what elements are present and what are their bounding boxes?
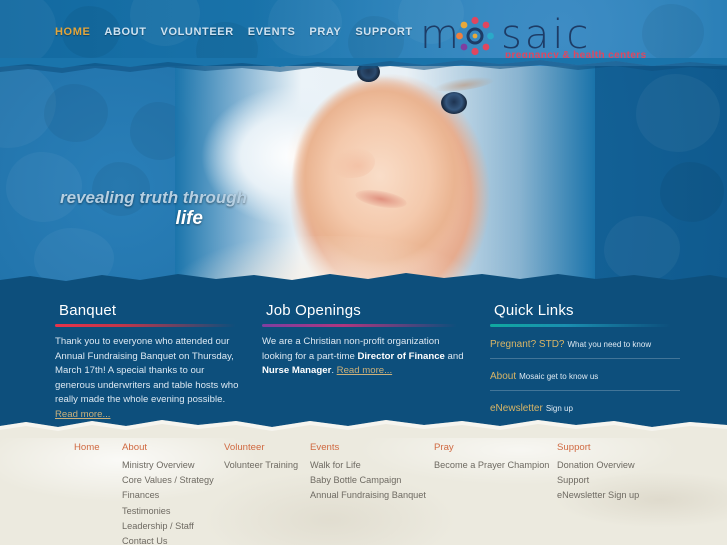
footer-link-support[interactable]: Support	[557, 473, 639, 488]
footer-heading-volunteer[interactable]: Volunteer	[224, 442, 298, 453]
site-logo[interactable]: msaic pregnancy & health centers	[420, 10, 665, 65]
footer-link-contact-us[interactable]: Contact Us	[122, 534, 214, 545]
mosaic-pattern-blob	[636, 74, 720, 152]
footer-column-volunteer: Volunteer Volunteer Training	[224, 442, 298, 473]
quick-link-value: What you need to know	[568, 340, 652, 349]
footer-link-testimonies[interactable]: Testimonies	[122, 504, 214, 519]
banquet-divider	[55, 324, 245, 327]
main-navigation[interactable]: HOME ABOUT VOLUNTEER EVENTS PRAY SUPPORT	[55, 26, 413, 38]
mosaic-pattern-blob	[348, 16, 404, 68]
jobs-body: We are a Christian non-profit organizati…	[262, 335, 467, 379]
column-quick-links: Quick Links Pregnant? STD?What you need …	[490, 302, 680, 422]
footer-heading-home[interactable]: Home	[74, 442, 100, 453]
column-banquet: Banquet Thank you to everyone who attend…	[55, 302, 245, 422]
nav-item-pray[interactable]: PRAY	[309, 26, 341, 38]
quick-link-key: eNewsletter	[490, 403, 543, 414]
mosaic-pattern-blob	[0, 0, 56, 68]
footer-link-volunteer-training[interactable]: Volunteer Training	[224, 458, 298, 473]
footer-link-enewsletter-signup[interactable]: eNewsletter Sign up	[557, 488, 639, 503]
quick-links-heading: Quick Links	[490, 302, 680, 319]
mosaic-circle-icon	[455, 16, 495, 56]
banquet-body: Thank you to everyone who attended our A…	[55, 335, 245, 422]
quick-link-about[interactable]: AboutMosaic get to know us	[490, 359, 680, 391]
nav-item-events[interactable]: EVENTS	[248, 26, 296, 38]
quick-link-value: Sign up	[546, 404, 573, 413]
mosaic-pattern-blob	[130, 0, 200, 46]
quick-link-enewsletter[interactable]: eNewsletterSign up	[490, 391, 680, 422]
jobs-read-more-link[interactable]: Read more...	[337, 365, 392, 376]
mosaic-pattern-blob	[44, 84, 108, 142]
footer-link-donation-overview[interactable]: Donation Overview	[557, 458, 639, 473]
site-footer: Home About Ministry Overview Core Values…	[0, 430, 727, 545]
footer-link-annual-fundraising-banquet[interactable]: Annual Fundraising Banquet	[310, 488, 426, 503]
hero-tagline-line1: revealing truth through	[60, 188, 247, 207]
nav-item-about[interactable]: ABOUT	[104, 26, 146, 38]
jobs-divider	[262, 324, 467, 327]
footer-link-core-values[interactable]: Core Values / Strategy	[122, 473, 214, 488]
footer-heading-pray[interactable]: Pray	[434, 442, 549, 453]
footer-column-support: Support Donation Overview Support eNewsl…	[557, 442, 639, 504]
mosaic-pattern-blob	[604, 216, 680, 281]
footer-column-pray: Pray Become a Prayer Champion	[434, 442, 549, 473]
nav-item-volunteer[interactable]: VOLUNTEER	[161, 26, 234, 38]
jobs-body-part2: and	[445, 351, 464, 362]
hero-tagline: revealing truth through life	[60, 188, 247, 230]
footer-link-become-prayer-champion[interactable]: Become a Prayer Champion	[434, 458, 549, 473]
footer-column-home: Home	[74, 442, 100, 458]
quick-link-key: About	[490, 371, 516, 382]
banquet-body-text: Thank you to everyone who attended our A…	[55, 336, 238, 405]
footer-link-baby-bottle-campaign[interactable]: Baby Bottle Campaign	[310, 473, 426, 488]
quick-link-key: Pregnant? STD?	[490, 339, 565, 350]
jobs-heading: Job Openings	[262, 302, 467, 319]
hero-baby-photo	[175, 66, 595, 281]
baby-lips	[354, 187, 408, 212]
content-columns: Banquet Thank you to everyone who attend…	[0, 282, 727, 422]
nav-item-home[interactable]: HOME	[55, 26, 90, 38]
banquet-heading: Banquet	[55, 302, 245, 319]
quick-link-value: Mosaic get to know us	[519, 372, 598, 381]
jobs-role-1: Director of Finance	[357, 351, 444, 362]
baby-nose	[333, 148, 375, 178]
quick-link-pregnant-std[interactable]: Pregnant? STD?What you need to know	[490, 327, 680, 359]
mosaic-pattern-blob	[660, 162, 724, 222]
footer-link-finances[interactable]: Finances	[122, 488, 214, 503]
footer-heading-support[interactable]: Support	[557, 442, 639, 453]
footer-link-leadership-staff[interactable]: Leadership / Staff	[122, 519, 214, 534]
banquet-read-more-link[interactable]: Read more...	[55, 409, 110, 420]
hero-tagline-line2: life	[60, 208, 247, 230]
footer-link-walk-for-life[interactable]: Walk for Life	[310, 458, 426, 473]
footer-column-events: Events Walk for Life Baby Bottle Campaig…	[310, 442, 426, 504]
page-root: HOME ABOUT VOLUNTEER EVENTS PRAY SUPPORT…	[0, 0, 727, 545]
baby-eye-right	[441, 92, 467, 114]
jobs-role-2: Nurse Manager	[262, 365, 331, 376]
mosaic-pattern-blob	[34, 228, 114, 281]
nav-item-support[interactable]: SUPPORT	[355, 26, 412, 38]
footer-link-ministry-overview[interactable]: Ministry Overview	[122, 458, 214, 473]
column-job-openings: Job Openings We are a Christian non-prof…	[262, 302, 467, 379]
footer-heading-events[interactable]: Events	[310, 442, 426, 453]
baby-eye-left	[357, 66, 380, 82]
baby-brow	[432, 74, 495, 95]
hero-banner: revealing truth through life Support Mos…	[0, 66, 727, 281]
logo-tagline: pregnancy & health centers	[505, 50, 647, 61]
footer-column-about: About Ministry Overview Core Values / St…	[122, 442, 214, 545]
footer-heading-about[interactable]: About	[122, 442, 214, 453]
header-band: HOME ABOUT VOLUNTEER EVENTS PRAY SUPPORT…	[0, 0, 727, 72]
